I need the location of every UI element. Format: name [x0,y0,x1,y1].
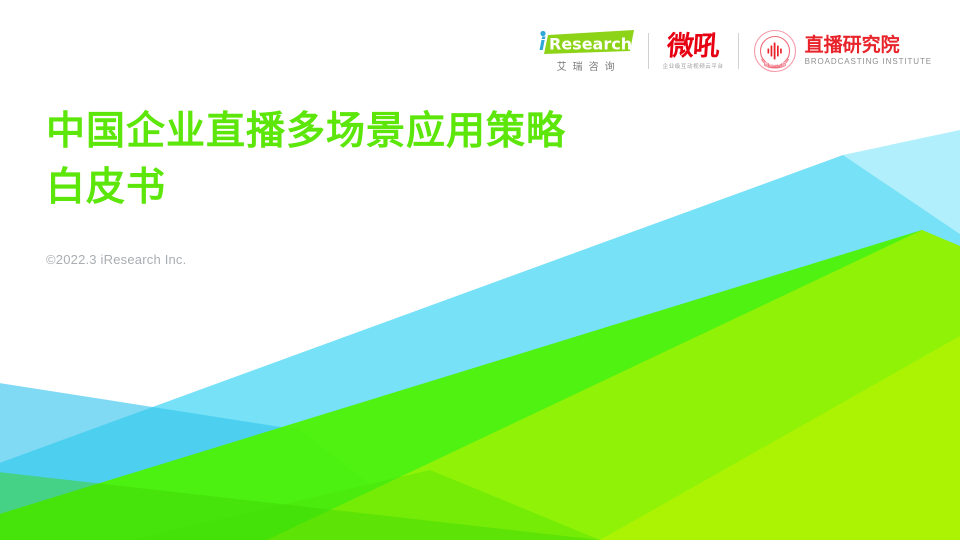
shape-green-deep-left [0,470,600,540]
broadcasting-institute-wordmark: 直播研究院 [805,36,900,55]
shape-green-sliver-bottom [130,470,600,540]
shape-green-yellow-overlay [140,230,960,540]
page-title: 中国企业直播多场景应用策略 白皮书 [46,104,566,216]
broadcasting-institute-english-name: BROADCASTING INSTITUTE [805,57,932,66]
shape-green-yellow-panel [600,336,960,540]
broadcasting-institute-badge-icon: 直播研究院 [753,29,797,73]
shape-cyan-right-sliver [843,130,960,234]
logo-weihou: 微吼 企业级互动视频云平台 [649,22,738,80]
shape-cyan-left-wedge [0,380,520,540]
title-line-1: 中国企业直播多场景应用策略 [46,104,566,160]
svg-text:直播研究院: 直播研究院 [764,61,787,68]
shape-green-main [0,230,960,540]
iresearch-logo-icon: i Research [538,30,634,55]
background-artwork [0,0,960,540]
logo-iresearch: i Research 艾瑞咨询 [524,22,648,80]
iresearch-chinese-name: 艾瑞咨询 [551,58,621,73]
weihou-wordmark: 微吼 [666,33,720,60]
title-line-2: 白皮书 [46,160,566,216]
svg-text:Research: Research [549,34,632,53]
copyright-notice: ©2022.3 iResearch Inc. [46,252,186,267]
slide-canvas: i Research 艾瑞咨询 微吼 企业级互动视频云平台 [0,0,960,540]
svg-text:i: i [539,34,546,55]
logo-broadcasting-institute: 直播研究院 直播研究院 BROADCASTING INSTITUTE [739,22,946,80]
weihou-tagline: 企业级互动视频云平台 [663,62,724,70]
logo-bar: i Research 艾瑞咨询 微吼 企业级互动视频云平台 [524,22,946,80]
